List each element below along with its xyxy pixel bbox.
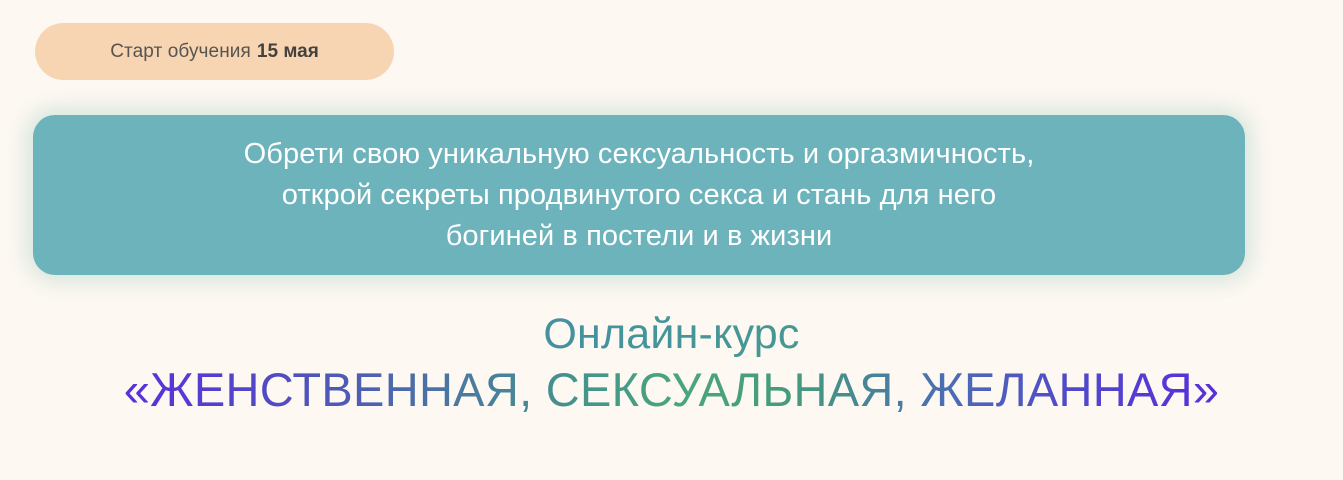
start-date-badge-date: 15 мая	[257, 41, 319, 63]
course-format-subtitle: Онлайн-курс	[0, 308, 1343, 360]
banner-line-1: Обрети свою уникальную сексуальность и о…	[244, 134, 1035, 175]
start-date-badge: Старт обучения 15 мая	[35, 23, 394, 80]
promo-hero-section: Старт обучения 15 мая Обрети свою уникал…	[0, 0, 1343, 480]
start-date-badge-label: Старт обучения	[110, 41, 251, 63]
course-heading-group: Онлайн-курс «ЖЕНСТВЕННАЯ, СЕКСУАЛЬНАЯ, Ж…	[0, 308, 1343, 420]
course-title: «ЖЕНСТВЕННАЯ, СЕКСУАЛЬНАЯ, ЖЕЛАННАЯ»	[0, 360, 1343, 420]
banner-line-2: открой секреты продвинутого секса и стан…	[282, 175, 997, 216]
course-promise-banner: Обрети свою уникальную сексуальность и о…	[33, 115, 1245, 275]
banner-line-3: богиней в постели и в жизни	[446, 216, 833, 257]
